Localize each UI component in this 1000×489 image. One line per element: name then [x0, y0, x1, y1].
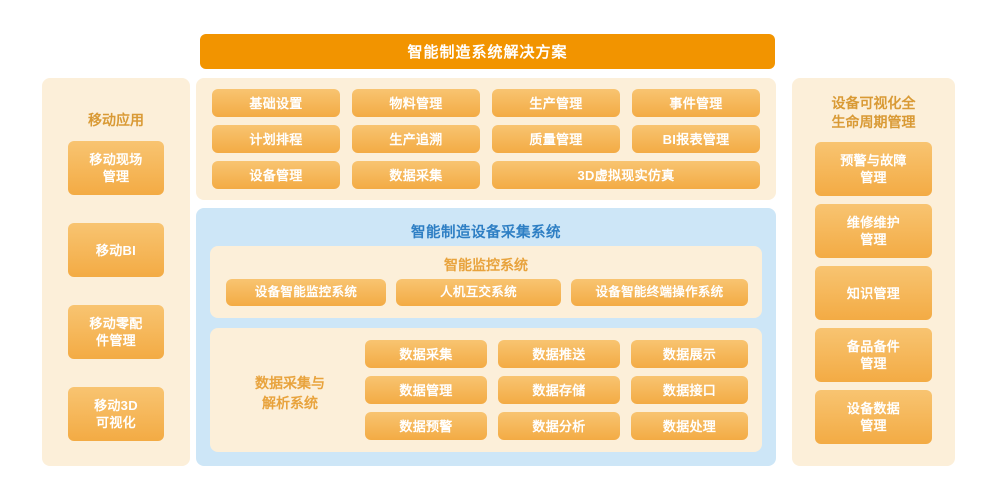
equipment-collection-system-panel: 智能制造设备采集系统 智能监控系统 设备智能监控系统 人机互交系统 设备智能终端… — [196, 208, 776, 466]
module-material-management[interactable]: 物料管理 — [352, 89, 480, 117]
data-item-storage[interactable]: 数据存储 — [498, 376, 620, 404]
banner-title: 智能制造系统解决方案 — [407, 41, 567, 62]
data-item-analysis[interactable]: 数据分析 — [498, 412, 620, 440]
top-modules-panel: 基础设置 物料管理 生产管理 事件管理 计划排程 生产追溯 质量管理 BI报表管… — [196, 78, 776, 200]
left-item-0[interactable]: 移动现场管理 — [68, 141, 164, 195]
right-item-2[interactable]: 知识管理 — [815, 266, 932, 320]
left-column-mobile-apps: 移动应用 移动现场管理 移动BI 移动零配件管理 移动3D可视化 — [42, 78, 190, 466]
blue-panel-title: 智能制造设备采集系统 — [196, 221, 776, 242]
right-column-equipment-lifecycle: 设备可视化全生命周期管理 预警与故障管理 维修维护管理 知识管理 备品备件管理 … — [792, 78, 955, 466]
data-item-collection[interactable]: 数据采集 — [365, 340, 487, 368]
module-basic-settings[interactable]: 基础设置 — [212, 89, 340, 117]
module-production-traceability[interactable]: 生产追溯 — [352, 125, 480, 153]
solution-banner: 智能制造系统解决方案 — [200, 34, 775, 69]
right-column-title: 设备可视化全生命周期管理 — [792, 94, 955, 132]
right-item-1[interactable]: 维修维护管理 — [815, 204, 932, 258]
monitoring-panel-title: 智能监控系统 — [210, 255, 762, 275]
data-panel-side-label: 数据采集与解析系统 — [220, 373, 360, 413]
data-item-management[interactable]: 数据管理 — [365, 376, 487, 404]
monitor-item-hmi-system[interactable]: 人机互交系统 — [396, 279, 561, 306]
module-plan-scheduling[interactable]: 计划排程 — [212, 125, 340, 153]
diagram-canvas: 智能制造系统解决方案 移动应用 移动现场管理 移动BI 移动零配件管理 移动3D… — [0, 0, 1000, 489]
intelligent-monitoring-panel: 智能监控系统 设备智能监控系统 人机互交系统 设备智能终端操作系统 — [210, 246, 762, 318]
module-quality-management[interactable]: 质量管理 — [492, 125, 620, 153]
module-data-collection[interactable]: 数据采集 — [352, 161, 480, 189]
left-item-2[interactable]: 移动零配件管理 — [68, 305, 164, 359]
data-item-interface[interactable]: 数据接口 — [631, 376, 748, 404]
module-3d-vr-simulation[interactable]: 3D虚拟现实仿真 — [492, 161, 760, 189]
data-item-alarm[interactable]: 数据预警 — [365, 412, 487, 440]
left-column-title: 移动应用 — [42, 111, 190, 130]
data-acquisition-panel: 数据采集与解析系统 数据采集 数据推送 数据展示 数据管理 数据存储 数据接口 … — [210, 328, 762, 452]
monitor-item-equipment-monitoring[interactable]: 设备智能监控系统 — [226, 279, 386, 306]
left-item-1[interactable]: 移动BI — [68, 223, 164, 277]
module-event-management[interactable]: 事件管理 — [632, 89, 760, 117]
module-equipment-management[interactable]: 设备管理 — [212, 161, 340, 189]
monitor-item-terminal-os[interactable]: 设备智能终端操作系统 — [571, 279, 748, 306]
module-production-management[interactable]: 生产管理 — [492, 89, 620, 117]
right-item-3[interactable]: 备品备件管理 — [815, 328, 932, 382]
right-item-0[interactable]: 预警与故障管理 — [815, 142, 932, 196]
data-item-display[interactable]: 数据展示 — [631, 340, 748, 368]
module-bi-report-management[interactable]: BI报表管理 — [632, 125, 760, 153]
left-item-3[interactable]: 移动3D可视化 — [68, 387, 164, 441]
data-item-processing[interactable]: 数据处理 — [631, 412, 748, 440]
right-item-4[interactable]: 设备数据管理 — [815, 390, 932, 444]
data-item-push[interactable]: 数据推送 — [498, 340, 620, 368]
